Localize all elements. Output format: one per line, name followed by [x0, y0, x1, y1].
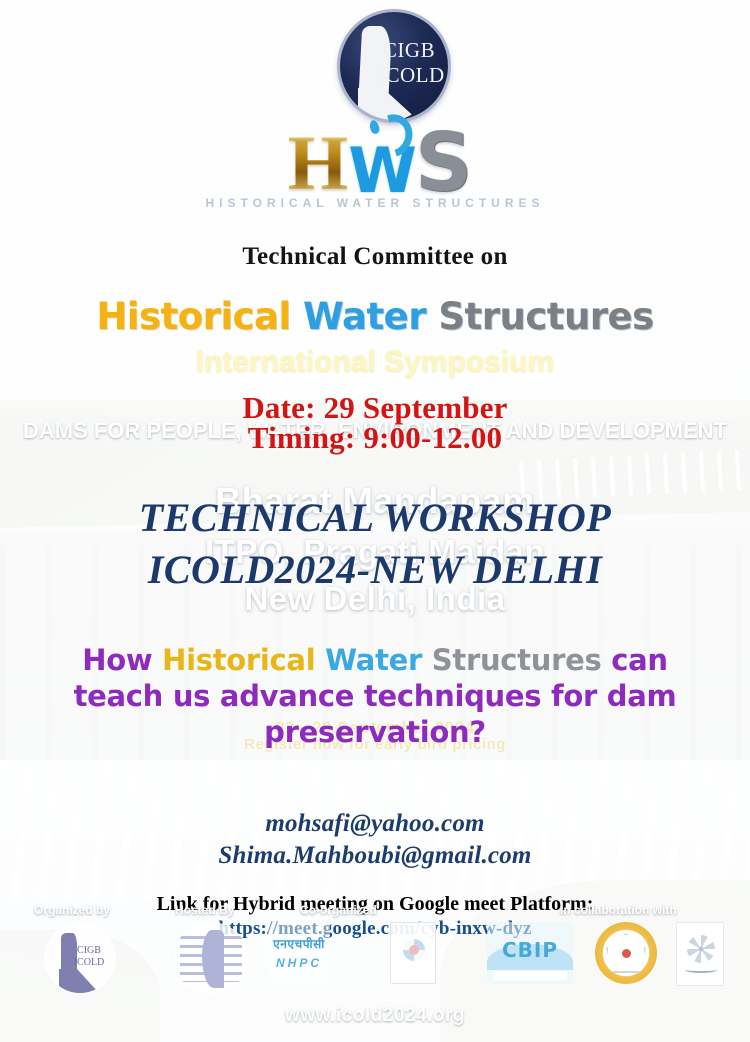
nhpc-logo: एनएचपीसी NHPC [268, 922, 330, 982]
workshop-heading-line1: TECHNICAL WORKSHOP [0, 494, 750, 541]
workshop-heading-line2: ICOLD2024-NEW DELHI [0, 546, 750, 593]
event-time: Timing: 9:00-12.00 [0, 420, 750, 456]
foreground-content-layer: Technical Committee on Historical Water … [0, 0, 750, 1042]
label-co-organized: Co-organized [300, 903, 377, 917]
technical-committee-line: Technical Committee on [0, 243, 750, 271]
title-word-historical: Historical [96, 295, 290, 338]
icold-partner-line1: CIGB [69, 945, 109, 957]
contact-email-secondary[interactable]: Shima.Mahboubi@gmail.com [0, 842, 750, 870]
label-in-collaboration-with: In collaboration with [560, 903, 677, 917]
icold-partner-line2: ICOLD [69, 957, 109, 969]
question-space1 [315, 643, 325, 677]
nhpc-latin-text: NHPC [276, 956, 322, 970]
title-word-structures: Structures [438, 295, 653, 338]
partner-labels-row: Organized by Hosted By Co-organized In c… [0, 903, 750, 921]
question-part1: How [82, 643, 162, 677]
white-emblem-ring-icon [687, 935, 715, 963]
white-emblem-wave-icon [685, 967, 717, 973]
question-word-structures: Structures [432, 643, 602, 677]
icold-partner-base-icon [59, 969, 99, 993]
question-word-historical: Historical [162, 643, 315, 677]
question-word-water: Water [325, 643, 422, 677]
cbip-bar-icon [493, 971, 567, 980]
cbip-text: CBIP [487, 938, 573, 962]
white-emblem-logo [676, 922, 724, 986]
label-hosted-by: Hosted By [175, 903, 234, 917]
page-title: Historical Water Structures [0, 295, 750, 338]
question-space2 [422, 643, 432, 677]
incold-dam-curve-icon [202, 930, 224, 988]
partner-card-mark-icon [403, 939, 425, 961]
nhpc-hindi-text: एनएचपीसी [273, 935, 325, 952]
poster-root: International Symposium DAMS FOR PEOPLE,… [0, 0, 750, 1042]
incold-dam-logo [174, 922, 248, 994]
label-organized-by: Organized by [34, 903, 110, 917]
gold-seal-logo [595, 922, 657, 984]
cbip-logo: CBIP [487, 922, 573, 984]
partner-card-logo [390, 922, 436, 984]
partner-logos-row: CIGB ICOLD एनएचपीसी NHPC CBIP [0, 922, 750, 992]
cigb-icold-partner-logo: CIGB ICOLD [44, 922, 116, 994]
workshop-question: How Historical Water Structures can teac… [38, 642, 712, 750]
title-word-water: Water [303, 295, 426, 338]
icold-partner-text: CIGB ICOLD [69, 945, 109, 969]
contact-email-primary[interactable]: mohsafi@yahoo.com [0, 810, 750, 838]
gold-seal-center-icon [622, 949, 631, 958]
